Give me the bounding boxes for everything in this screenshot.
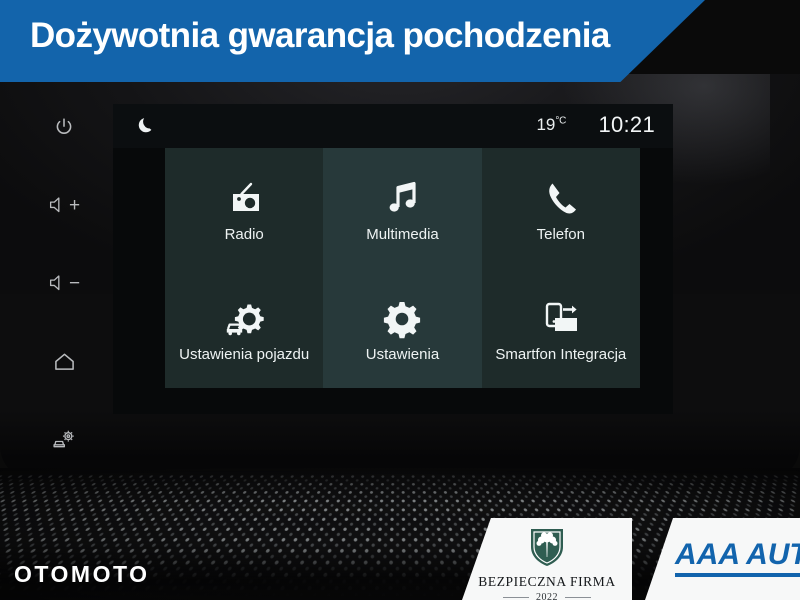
tile-label: Telefon bbox=[537, 226, 585, 243]
temperature-value: 19 bbox=[536, 115, 555, 134]
vehicle-settings-button[interactable] bbox=[26, 416, 102, 462]
tile-ustawienia-pojazdu[interactable]: Ustawienia pojazdu bbox=[165, 268, 323, 388]
safe-company-year-row: 2022 bbox=[503, 592, 591, 600]
volume-down-button[interactable]: − bbox=[26, 260, 102, 306]
infotainment-screen: 19°C 10:21 Radio bbox=[113, 104, 673, 414]
music-note-icon bbox=[382, 172, 422, 220]
power-button[interactable] bbox=[26, 104, 102, 150]
moon-icon bbox=[136, 116, 155, 140]
tile-label: Smartfon Integracja bbox=[495, 346, 626, 363]
otomoto-logo: OTOMOTO bbox=[14, 561, 150, 588]
speaker-minus-icon bbox=[48, 274, 68, 292]
car-gear-icon bbox=[221, 292, 267, 340]
speaker-plus-icon bbox=[48, 196, 68, 214]
phone-icon bbox=[541, 172, 581, 220]
tile-label: Ustawienia pojazdu bbox=[179, 346, 309, 363]
promo-banner-text: Dożywotnia gwarancja pochodzenia bbox=[30, 16, 690, 56]
tile-label: Ustawienia bbox=[366, 346, 439, 363]
car-gear-icon bbox=[52, 428, 77, 450]
safe-company-name: BEZPIECZNA FIRMA bbox=[478, 574, 616, 590]
tile-telefon[interactable]: Telefon bbox=[482, 148, 640, 268]
tile-multimedia[interactable]: Multimedia bbox=[323, 148, 481, 268]
tile-ustawienia[interactable]: Ustawienia bbox=[323, 268, 481, 388]
dealer-underline bbox=[675, 573, 800, 577]
year-rule-right bbox=[565, 597, 591, 598]
smartphone-link-icon bbox=[539, 292, 583, 340]
tile-smartfon-integracja[interactable]: Smartfon Integracja bbox=[482, 268, 640, 388]
status-bar: 19°C 10:21 bbox=[113, 104, 673, 148]
home-tile-grid: Radio Multimedia bbox=[165, 148, 640, 388]
home-icon bbox=[53, 351, 76, 372]
volume-up-button[interactable]: + bbox=[26, 182, 102, 228]
tile-label: Multimedia bbox=[366, 226, 439, 243]
footer-badges: BEZPIECZNA FIRMA 2022 AAA AUTO bbox=[440, 518, 800, 600]
screenshot-root: Dożywotnia gwarancja pochodzenia + bbox=[0, 0, 800, 600]
promo-banner: Dożywotnia gwarancja pochodzenia bbox=[0, 0, 800, 82]
hardware-button-column: + − bbox=[26, 104, 102, 434]
dealer-name: AAA AUTO bbox=[675, 538, 800, 572]
home-button[interactable] bbox=[26, 338, 102, 384]
tile-label: Radio bbox=[225, 226, 264, 243]
clock: 10:21 bbox=[598, 112, 655, 138]
volume-up-label: + bbox=[69, 196, 80, 215]
year-rule-left bbox=[503, 597, 529, 598]
shield-tree-icon bbox=[527, 524, 567, 573]
temperature-readout: 19°C bbox=[536, 115, 566, 135]
radio-icon bbox=[221, 172, 267, 220]
safe-company-badge: BEZPIECZNA FIRMA 2022 bbox=[462, 518, 632, 600]
volume-down-label: − bbox=[69, 274, 80, 293]
dealer-badge: AAA AUTO bbox=[645, 518, 800, 600]
temperature-unit: °C bbox=[555, 115, 566, 126]
tile-radio[interactable]: Radio bbox=[165, 148, 323, 268]
safe-company-year: 2022 bbox=[536, 592, 558, 600]
gear-icon bbox=[381, 292, 423, 340]
power-icon bbox=[53, 116, 75, 138]
